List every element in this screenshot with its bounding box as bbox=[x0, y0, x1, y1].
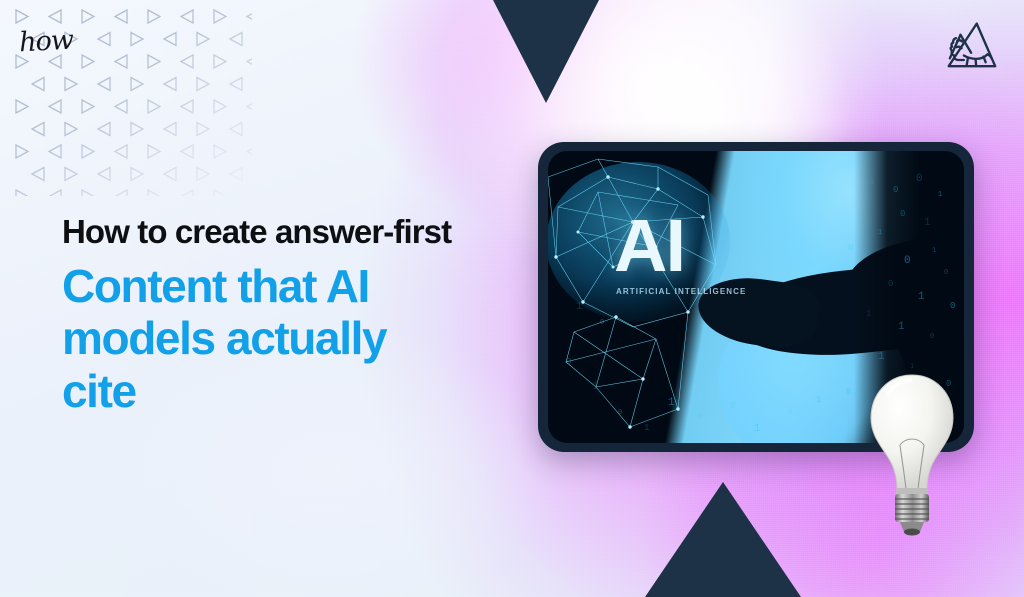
decorative-triangle-top bbox=[493, 0, 599, 103]
lightbulb-icon bbox=[866, 373, 958, 536]
headline-line-1: How to create answer-first bbox=[62, 214, 532, 251]
headline-block: How to create answer-first Content that … bbox=[62, 214, 532, 417]
headline-line-2: Content that AI bbox=[62, 260, 532, 312]
mountain-gorilla-logo-icon[interactable] bbox=[942, 18, 998, 74]
banner-canvas: How to create answer-first Content that … bbox=[0, 0, 1024, 597]
screen-ai-subtitle: ARTIFICIAL INTELLIGENCE bbox=[616, 287, 746, 296]
screen-ai-title: AI bbox=[614, 213, 684, 280]
headline-line-4: cite bbox=[62, 365, 532, 417]
decorative-triangle-bottom bbox=[645, 482, 801, 597]
lightbulb-word: how bbox=[15, 24, 77, 58]
headline-line-3: models actually bbox=[62, 312, 532, 364]
